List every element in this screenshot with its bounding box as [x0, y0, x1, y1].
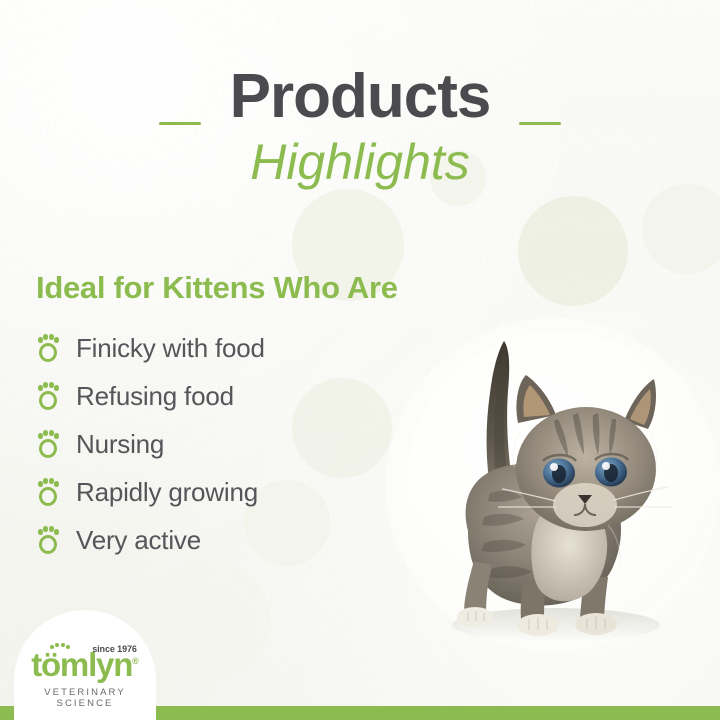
brand-logo: since 1976 tömlyn® VETERINARY SCIENCE — [14, 644, 156, 709]
background-circle-2 — [518, 196, 628, 306]
page-title: Products — [230, 62, 491, 131]
list-item-label: Refusing food — [76, 381, 234, 411]
paw-icon — [36, 429, 62, 459]
title-dash-left-icon — [159, 122, 201, 125]
kitten-photo — [398, 325, 720, 665]
brand-tagline: VETERINARY SCIENCE — [14, 687, 156, 709]
section-heading: Ideal for Kittens Who Are — [36, 268, 506, 308]
title-dash-right-icon — [519, 122, 561, 125]
background-circle-7 — [150, 560, 270, 680]
paw-icon — [36, 477, 62, 507]
paw-icon — [36, 333, 62, 363]
paw-icon — [36, 525, 62, 555]
brand-wordmark: since 1976 tömlyn® — [31, 644, 139, 682]
paw-icon — [36, 381, 62, 411]
list-item-label: Finicky with food — [76, 333, 265, 363]
page-subtitle: Highlights — [0, 134, 720, 190]
product-highlights-graphic: Products Highlights Ideal for Kittens Wh… — [0, 0, 720, 720]
list-item-label: Rapidly growing — [76, 477, 258, 507]
brand-since-label: since 1976 — [92, 632, 137, 666]
list-item-label: Nursing — [76, 429, 164, 459]
header: Products Highlights — [0, 62, 720, 190]
paw-dots-icon — [50, 642, 72, 650]
title-row: Products — [0, 62, 720, 132]
kitten-illustration — [398, 325, 720, 665]
list-item-label: Very active — [76, 525, 201, 555]
